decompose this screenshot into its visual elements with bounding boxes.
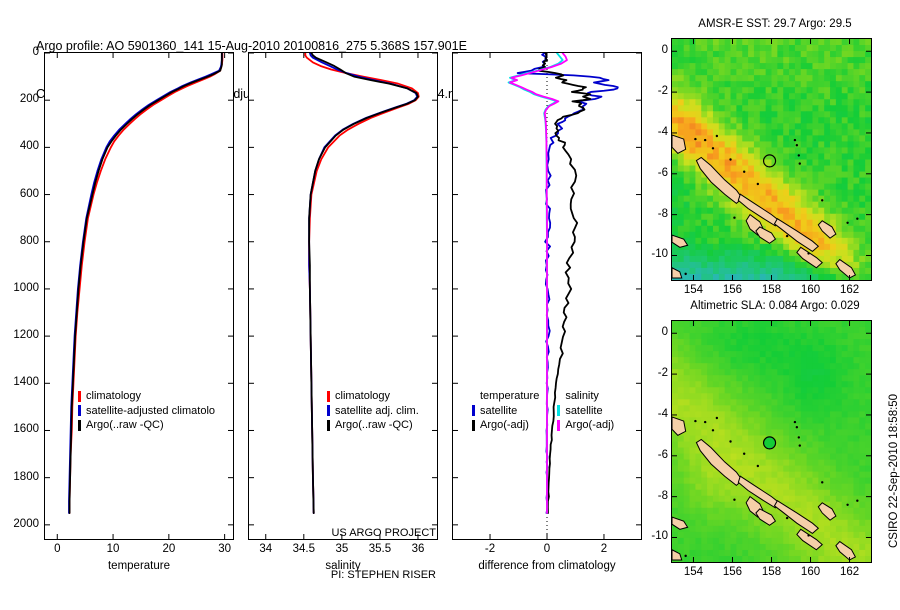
legend-color-swatch <box>327 391 330 402</box>
map-latitude-tick-label: -4 <box>624 408 668 420</box>
legend-color-swatch <box>472 405 475 416</box>
legend-label: satellite-adjusted climatolo <box>86 404 215 419</box>
sla-map-title: Altimetric SLA: 0.084 Argo: 0.029 <box>660 300 890 312</box>
map-latitude-tick-label: 0 <box>624 326 668 338</box>
depth-tick-label: 1800 <box>0 471 39 483</box>
map-longitude-tick-label: 162 <box>820 284 880 296</box>
legend-color-swatch <box>327 405 330 416</box>
legend-label: satellite adj. clim. <box>335 404 419 419</box>
map-latitude-tick-label: -2 <box>624 367 668 379</box>
legend-label: climatology <box>335 389 390 404</box>
legend-color-swatch <box>78 391 81 402</box>
legend-color-swatch <box>472 420 475 431</box>
depth-tick-label: 2000 <box>0 518 39 530</box>
x-tick-label: 2 <box>574 543 634 555</box>
legend-entry: satellite <box>472 404 539 419</box>
x-tick-label: -2 <box>460 543 520 555</box>
depth-tick-label: 800 <box>0 235 39 247</box>
legend-label: Argo(..raw -QC) <box>86 418 164 433</box>
project-credit: US ARGO PROJECT PI: STEPHEN RISER <box>298 498 436 610</box>
depth-tick-label: 600 <box>0 188 39 200</box>
legend-color-swatch <box>78 405 81 416</box>
sst-map-title: AMSR-E SST: 29.7 Argo: 29.5 <box>660 18 890 30</box>
sst-map-image <box>672 39 871 280</box>
legend-column: temperaturesatelliteArgo(-adj) <box>472 389 539 433</box>
x-tick-label: 10 <box>83 543 143 555</box>
difference-profile-panel <box>452 52 642 540</box>
temperature-plot-area <box>45 53 233 539</box>
map-latitude-tick-label: -8 <box>624 490 668 502</box>
map-latitude-tick-label: -4 <box>624 126 668 138</box>
legend-entry: satellite adj. clim. <box>327 404 419 419</box>
legend-label: Argo(-adj) <box>480 418 529 433</box>
argo-profile-figure: Argo profile: AO 5901360_141 15-Aug-2010… <box>0 0 900 580</box>
depth-tick-label: 1200 <box>0 329 39 341</box>
legend-color-swatch <box>78 420 81 431</box>
map-latitude-tick-label: -8 <box>624 208 668 220</box>
sst-map-panel <box>671 38 872 281</box>
legend-color-swatch <box>557 405 560 416</box>
legend-column-header: salinity <box>557 389 614 404</box>
map-latitude-tick-label: -2 <box>624 85 668 97</box>
legend-color-swatch <box>327 420 330 431</box>
legend-column-header: temperature <box>472 389 539 404</box>
legend-label: Argo(-adj) <box>565 418 614 433</box>
legend-entry: Argo(-adj) <box>557 418 614 433</box>
depth-tick-label: 200 <box>0 93 39 105</box>
sla-map-panel <box>671 320 872 563</box>
salinity-plot-area <box>249 53 437 539</box>
map-latitude-tick-label: -10 <box>624 530 668 542</box>
legend-label: climatology <box>86 389 141 404</box>
depth-tick-label: 400 <box>0 140 39 152</box>
map-latitude-tick-label: 0 <box>624 44 668 56</box>
depth-tick-label: 1000 <box>0 282 39 294</box>
salinity-panel-legend: climatologysatellite adj. clim.Argo(..ra… <box>327 389 419 433</box>
csiro-timestamp: CSIRO 22-Sep-2010 18:58:50 <box>888 394 900 548</box>
depth-tick-label: 1400 <box>0 376 39 388</box>
credit-line-1: US ARGO PROJECT <box>298 526 436 540</box>
temperature-profile-panel <box>44 52 234 540</box>
legend-label: satellite <box>565 404 602 419</box>
legend-entry: satellite <box>557 404 614 419</box>
difference-plot-area <box>453 53 641 539</box>
legend-color-swatch <box>557 420 560 431</box>
sla-map-image <box>672 321 871 562</box>
legend-entry: Argo(..raw -QC) <box>327 418 419 433</box>
legend-entry: Argo(..raw -QC) <box>78 418 215 433</box>
depth-tick-label: 0 <box>0 46 39 58</box>
x-tick-label: 0 <box>517 543 577 555</box>
legend-entry: satellite-adjusted climatolo <box>78 404 215 419</box>
legend-entry: climatology <box>327 389 419 404</box>
temperature-panel-legend: climatologysatellite-adjusted climatoloA… <box>78 389 215 433</box>
x-tick-label: 0 <box>27 543 87 555</box>
map-longitude-tick-label: 162 <box>820 566 880 578</box>
legend-entry: climatology <box>78 389 215 404</box>
map-latitude-tick-label: -10 <box>624 248 668 260</box>
difference-panel-legend: temperaturesatelliteArgo(-adj)salinitysa… <box>472 389 614 433</box>
x-tick-label: 20 <box>139 543 199 555</box>
map-latitude-tick-label: -6 <box>624 167 668 179</box>
legend-label: Argo(..raw -QC) <box>335 418 413 433</box>
legend-entry: Argo(-adj) <box>472 418 539 433</box>
temperature-axis-title: temperature <box>44 560 234 572</box>
salinity-profile-panel <box>248 52 438 540</box>
map-latitude-tick-label: -6 <box>624 449 668 461</box>
legend-label: satellite <box>480 404 517 419</box>
legend-column: salinitysatelliteArgo(-adj) <box>557 389 614 433</box>
difference-axis-title: difference from climatology <box>452 560 642 572</box>
depth-tick-label: 1600 <box>0 423 39 435</box>
